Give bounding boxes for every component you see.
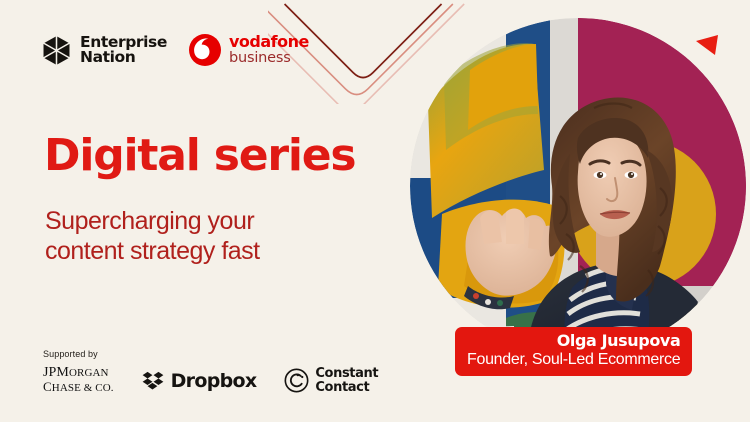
red-triangle-accent-icon <box>694 32 720 58</box>
page-title: Digital series <box>44 132 355 180</box>
vodafone-speechmark-icon <box>188 33 222 67</box>
page-subtitle-line1: Supercharging your <box>45 206 260 236</box>
constant-contact-wordmark: Constant Contact <box>315 367 378 394</box>
speaker-portrait <box>410 18 746 354</box>
vodafone-wordmark: vodafone business <box>229 34 309 66</box>
sponsor-logo-row: JPMORGAN CHASE & CO. Dropbox <box>43 366 378 395</box>
speaker-name: Olga Jusupova <box>467 332 680 350</box>
supported-by-label: Supported by <box>43 349 378 359</box>
vodafone-business-logo: vodafone business <box>188 33 309 67</box>
jpmorgan-line1: JPMORGAN <box>43 366 114 380</box>
dropbox-logo: Dropbox <box>142 370 257 392</box>
speaker-nameplate: Olga Jusupova Founder, Soul-Led Ecommerc… <box>455 327 692 376</box>
jpmorgan-line2: CHASE & CO. <box>43 380 114 395</box>
speaker-role: Founder, Soul-Led Ecommerce <box>467 350 680 369</box>
enterprise-nation-wordmark: Enterprise Nation <box>80 35 167 66</box>
enterprise-nation-line2: Nation <box>80 50 167 66</box>
jpmorgan-chase-logo: JPMORGAN CHASE & CO. <box>43 366 114 395</box>
constant-contact-line1: Constant <box>315 367 378 381</box>
supported-by-section: Supported by JPMORGAN CHASE & CO. Dropbo… <box>43 349 378 395</box>
page-subtitle: Supercharging your content strategy fast <box>45 206 260 266</box>
vodafone-line2: business <box>229 51 309 66</box>
page-subtitle-line2: content strategy fast <box>45 236 260 266</box>
speaker-portrait-image <box>410 18 746 354</box>
enterprise-nation-logo: Enterprise Nation <box>41 35 167 66</box>
enterprise-nation-hex-icon <box>41 35 72 66</box>
constant-contact-circle-icon <box>284 368 309 393</box>
webinar-promo-banner: Enterprise Nation vodafone business Digi… <box>0 0 750 422</box>
constant-contact-line2: Contact <box>315 381 378 395</box>
constant-contact-logo: Constant Contact <box>284 367 378 394</box>
partner-logo-row: Enterprise Nation vodafone business <box>41 33 309 67</box>
vodafone-line1: vodafone <box>229 34 309 51</box>
dropbox-wordmark: Dropbox <box>171 370 257 392</box>
dropbox-box-icon <box>142 371 164 391</box>
